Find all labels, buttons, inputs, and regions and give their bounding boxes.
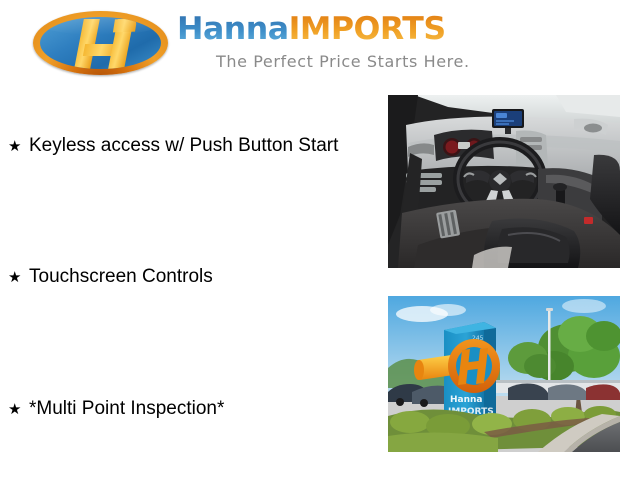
brand-header: HannaIMPORTS The Perfect Price Starts He… [0,0,640,88]
star-bullet-icon: ★ [8,139,29,154]
vehicle-interior-illustration [388,95,620,268]
logo-oval-field [40,17,161,69]
logo-h-hook [113,19,137,33]
star-bullet-icon: ★ [8,270,29,285]
feature-label: Touchscreen Controls [29,267,213,286]
list-item: ★ *Multi Point Inspection* [8,399,224,418]
feature-label: Keyless access w/ Push Button Start [29,136,338,155]
wordmark-imports: IMPORTS [289,11,446,47]
star-bullet-icon: ★ [8,402,29,417]
list-item: ★ Touchscreen Controls [8,267,213,286]
brand-tagline: The Perfect Price Starts Here. [216,52,470,71]
feature-label: *Multi Point Inspection* [29,399,224,418]
dealership-sign-photo: 245 Hanna IMPORTS [388,296,620,452]
wordmark-hanna: Hanna [177,11,289,47]
svg-text:Hanna: Hanna [450,395,483,405]
brand-wordmark: HannaIMPORTS [177,14,446,45]
dealership-sign-illustration: 245 Hanna IMPORTS [388,296,620,452]
list-item: ★ Keyless access w/ Push Button Start [8,136,338,155]
hanna-oval-h-logo-icon [33,11,168,75]
vehicle-interior-photo [388,95,620,268]
